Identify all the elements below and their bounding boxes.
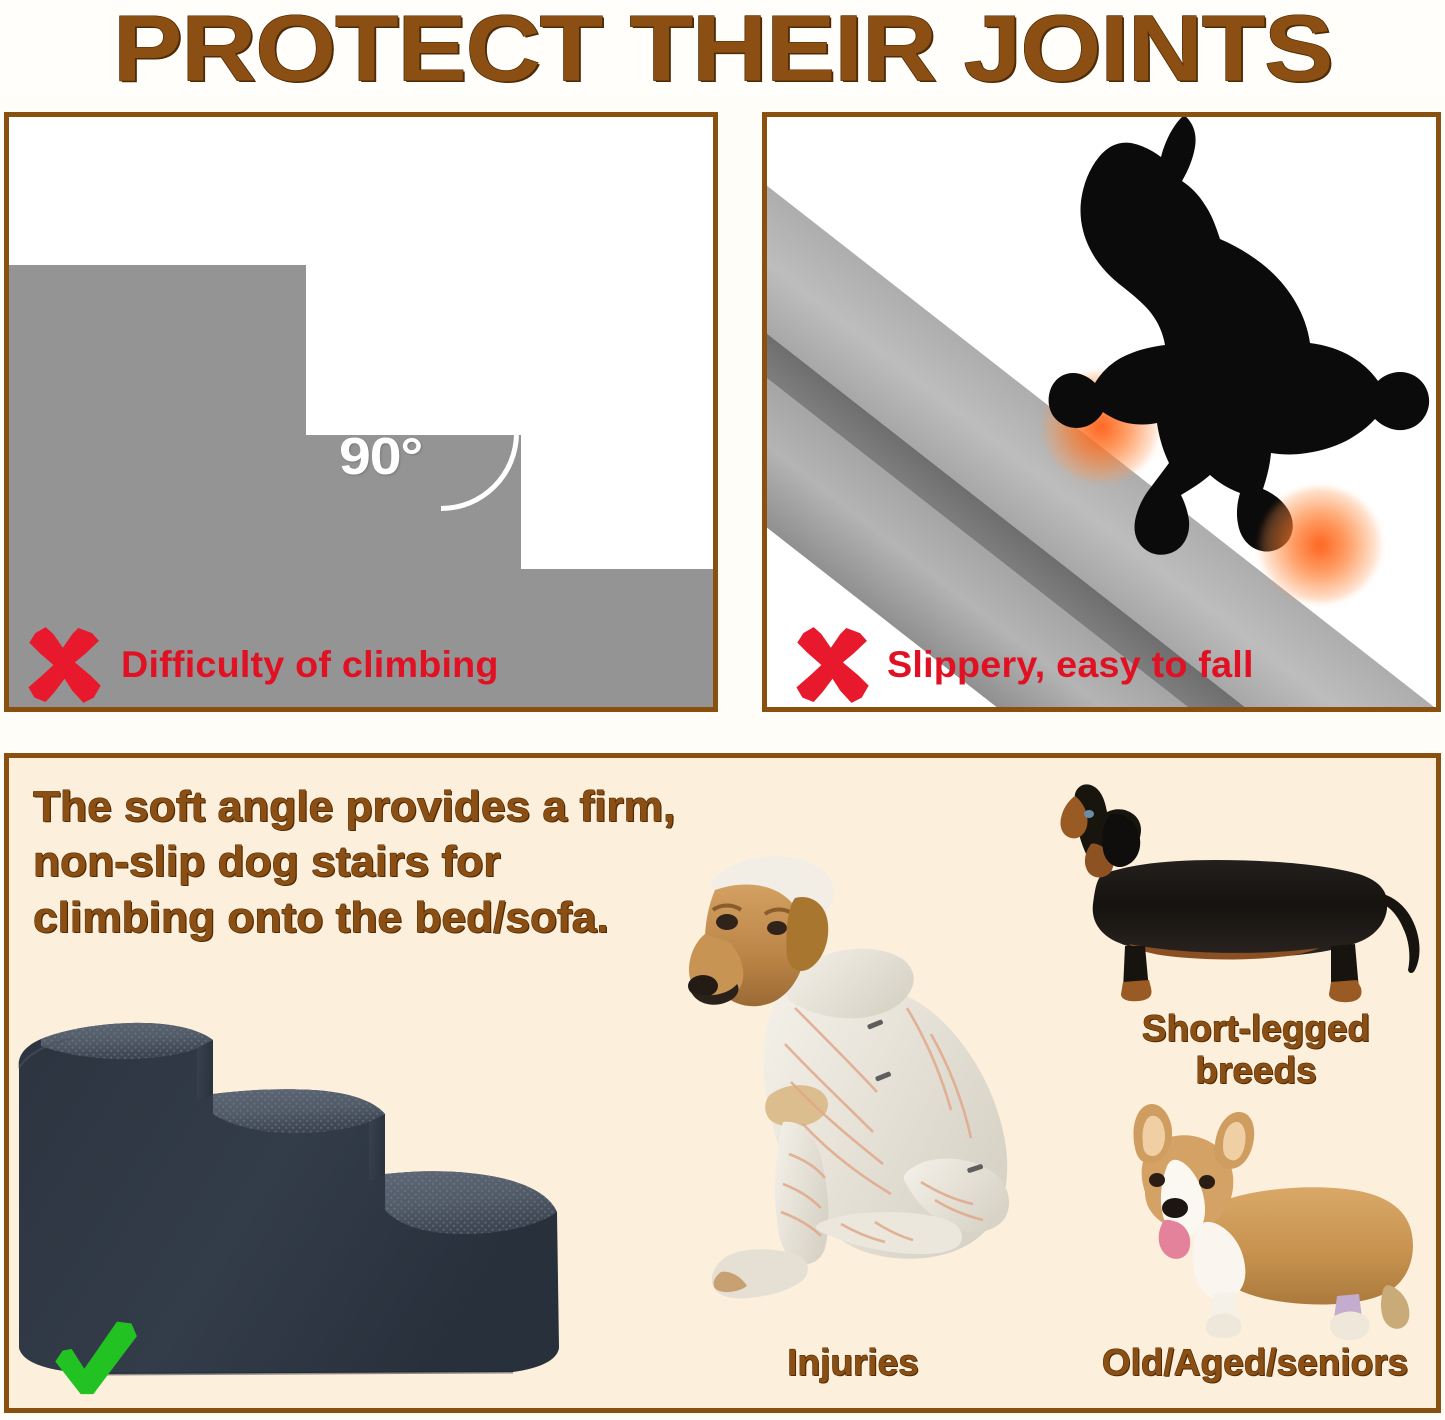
green-check-icon	[51, 1318, 143, 1396]
panel-difficulty-of-climbing: 90° Difficulty of climbing	[4, 112, 718, 712]
angle-label: 90°	[339, 427, 422, 487]
solution-line-1: The soft angle provides a firm,	[33, 780, 744, 835]
photo-bandaged-dog	[669, 786, 1061, 1346]
photo-corgi	[1105, 1104, 1435, 1346]
ramp-warning-label: Slippery, easy to fall	[887, 644, 1254, 686]
solution-line-2: non-slip dog stairs for	[33, 835, 744, 890]
solution-line-3: climbing onto the bed/sofa.	[33, 891, 744, 946]
panel-slippery-easy-to-fall: Slippery, easy to fall	[762, 112, 1441, 712]
page-header: PROTECT THEIR JOINTS	[0, 0, 1445, 96]
caption-short-legged-breeds: Short-legged breeds	[1091, 1008, 1421, 1092]
photo-dachshund	[1039, 778, 1431, 1010]
red-x-icon	[25, 622, 111, 708]
panel-solution: The soft angle provides a firm, non-slip…	[4, 753, 1441, 1413]
red-x-icon	[793, 622, 879, 708]
stairs-warning-label: Difficulty of climbing	[121, 644, 499, 686]
stair-diagram: 90° Difficulty of climbing	[9, 117, 713, 707]
joint-pain-glow-rear	[1259, 487, 1381, 603]
caption-old-aged-seniors: Old/Aged/seniors	[1055, 1342, 1441, 1384]
ramp-diagram: Slippery, easy to fall	[767, 117, 1436, 707]
page-title: PROTECT THEIR JOINTS	[113, 1, 1332, 95]
caption-injuries: Injuries	[703, 1342, 1003, 1384]
stair-step-bottom	[521, 569, 718, 712]
solution-description: The soft angle provides a firm, non-slip…	[33, 780, 744, 946]
